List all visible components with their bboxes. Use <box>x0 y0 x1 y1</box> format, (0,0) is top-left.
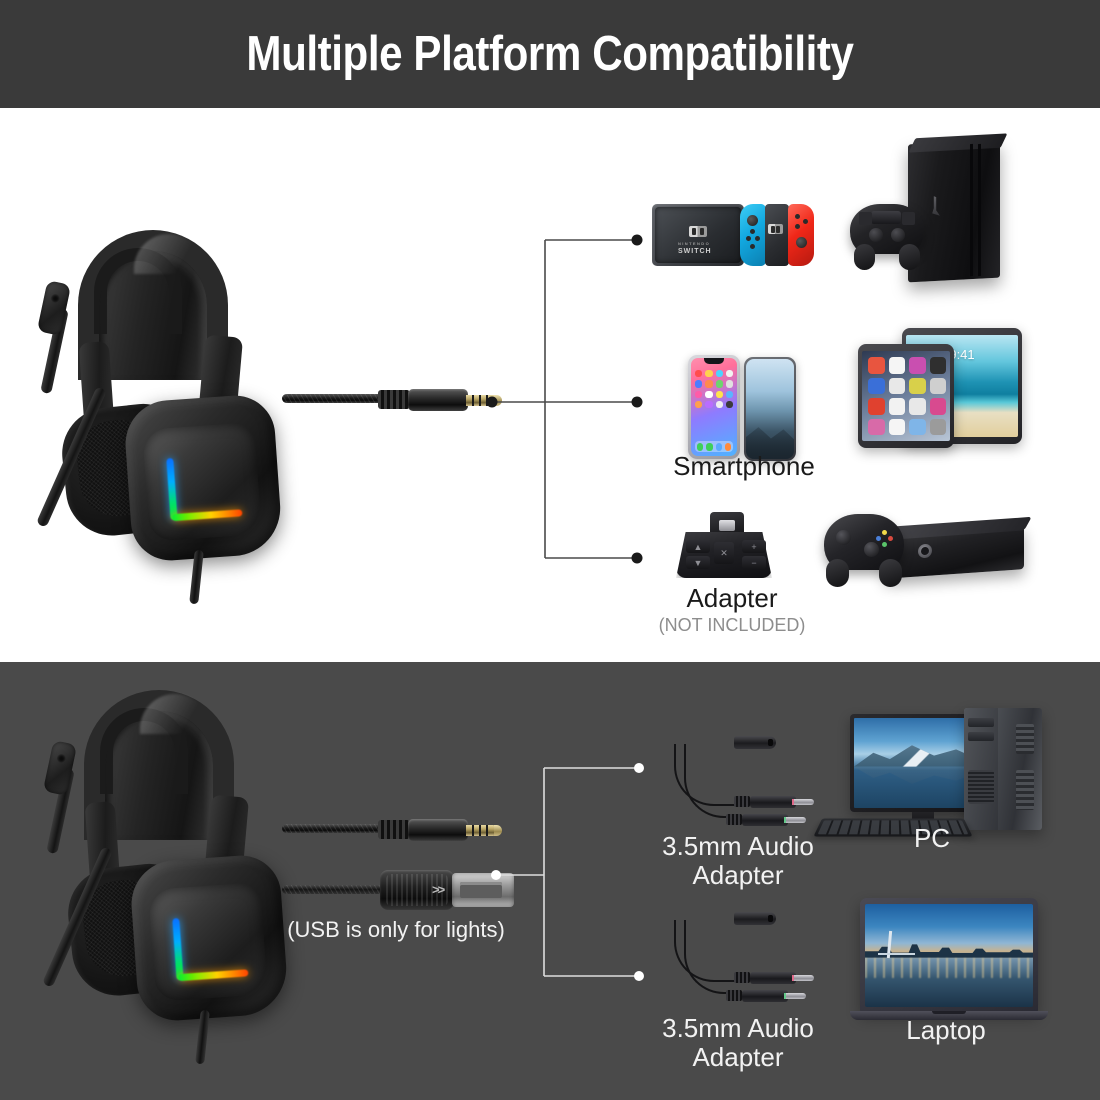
mic-plug-pin <box>794 975 814 981</box>
mic-plug-pin <box>794 799 814 805</box>
device-audio-adapter-top <box>666 736 816 828</box>
label-pc: PC <box>832 824 1032 853</box>
splitter-audio-plug <box>742 990 788 1002</box>
infographic-page: Multiple Platform Compatibility <box>0 0 1100 1100</box>
label-laptop: Laptop <box>846 1016 1046 1045</box>
label-audio-adapter-top: 3.5mm Audio Adapter <box>618 832 858 890</box>
pc-tower <box>964 708 1042 830</box>
audio-plug-pin <box>786 817 806 823</box>
laptop-lid <box>860 898 1038 1012</box>
laptop-wallpaper-bridge <box>878 931 915 958</box>
device-laptop <box>846 898 1056 1022</box>
laptop-wallpaper-reflection <box>865 958 1033 979</box>
device-pc <box>828 702 1058 842</box>
tower-drive-bay <box>968 732 994 741</box>
audio-plug-pin <box>786 993 806 999</box>
splitter-mic-plug <box>750 972 796 984</box>
tower-side-vent-top <box>1016 724 1034 754</box>
tower-side-vent-bottom <box>1016 770 1034 810</box>
device-audio-adapter-bottom <box>666 912 816 1004</box>
tower-front-grille <box>968 770 994 804</box>
splitter-ferrite-b <box>726 990 742 1001</box>
splitter-audio-plug <box>742 814 788 826</box>
tower-optical-drive <box>968 718 994 727</box>
laptop-screen <box>865 904 1033 1007</box>
splitter-ferrite-b <box>726 814 742 825</box>
laptop-trackpad-notch <box>932 1011 966 1014</box>
label-audio-adapter-bottom: 3.5mm Audio Adapter <box>618 1014 858 1072</box>
iphone-notch <box>704 358 724 364</box>
splitter-ferrite-a <box>734 972 750 983</box>
splitter-ferrite-a <box>734 796 750 807</box>
splitter-mic-plug <box>750 796 796 808</box>
